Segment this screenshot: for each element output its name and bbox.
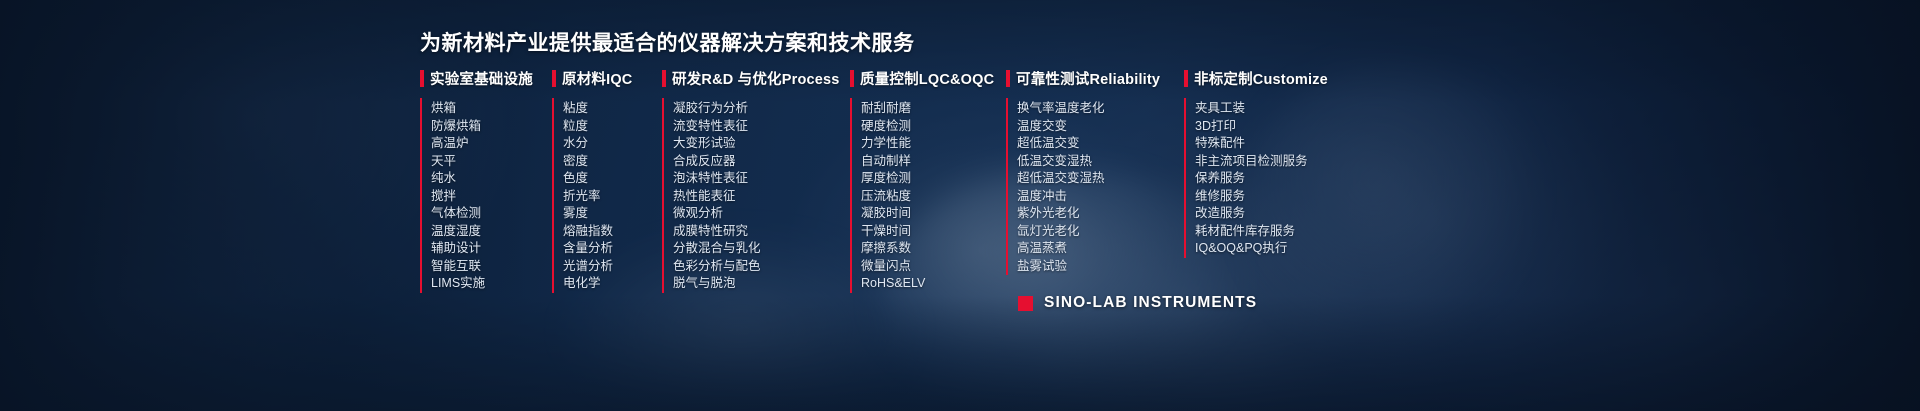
list-item[interactable]: 摩擦系数 bbox=[861, 240, 1006, 258]
header-accent-bar-icon bbox=[850, 70, 854, 87]
list-item[interactable]: LIMS实施 bbox=[431, 275, 552, 293]
column-header-label: 研发R&D 与优化Process bbox=[672, 68, 840, 89]
list-item[interactable]: 水分 bbox=[563, 135, 662, 153]
list-item[interactable]: 厚度检测 bbox=[861, 170, 1006, 188]
list-item[interactable]: 非主流项目检测服务 bbox=[1195, 153, 1354, 171]
list-item[interactable]: 低温交变湿热 bbox=[1017, 153, 1184, 171]
list-item[interactable]: 脱气与脱泡 bbox=[673, 275, 850, 293]
column-header: 非标定制Customize bbox=[1184, 68, 1354, 88]
list-item[interactable]: 力学性能 bbox=[861, 135, 1006, 153]
column-item-list: 粘度 粒度 水分 密度 色度 折光率 雾度 熔融指数 含量分析 光谱分析 电化学 bbox=[552, 98, 662, 293]
list-item[interactable]: 3D打印 bbox=[1195, 118, 1354, 136]
list-accent-rule-icon bbox=[850, 98, 852, 293]
page-title: 为新材料产业提供最适合的仪器解决方案和技术服务 bbox=[420, 27, 915, 57]
column-item-list: 夹具工装 3D打印 特殊配件 非主流项目检测服务 保养服务 维修服务 改造服务 … bbox=[1184, 98, 1354, 258]
list-item[interactable]: 耐刮耐磨 bbox=[861, 100, 1006, 118]
list-item[interactable]: 含量分析 bbox=[563, 240, 662, 258]
list-item[interactable]: 粘度 bbox=[563, 100, 662, 118]
column-item-list: 凝胶行为分析 流变特性表征 大变形试验 合成反应器 泡沫特性表征 热性能表征 微… bbox=[662, 98, 850, 293]
list-accent-rule-icon bbox=[420, 98, 422, 293]
list-item[interactable]: 合成反应器 bbox=[673, 153, 850, 171]
column-header-label: 可靠性测试Reliability bbox=[1016, 68, 1160, 89]
list-item[interactable]: 烘箱 bbox=[431, 100, 552, 118]
column-header: 研发R&D 与优化Process bbox=[662, 68, 850, 88]
category-column-reliability: 可靠性测试Reliability 换气率温度老化 温度交变 超低温交变 低温交变… bbox=[1006, 68, 1184, 275]
list-item[interactable]: 凝胶行为分析 bbox=[673, 100, 850, 118]
list-item[interactable]: 温度冲击 bbox=[1017, 188, 1184, 206]
list-item[interactable]: 耗材配件库存服务 bbox=[1195, 223, 1354, 241]
list-item[interactable]: 改造服务 bbox=[1195, 205, 1354, 223]
brand-name: SINO-LAB INSTRUMENTS bbox=[1044, 294, 1257, 312]
brand-lockup: SINO-LAB INSTRUMENTS bbox=[1018, 294, 1257, 312]
list-item[interactable]: 雾度 bbox=[563, 205, 662, 223]
list-accent-rule-icon bbox=[1184, 98, 1186, 258]
list-item[interactable]: 纯水 bbox=[431, 170, 552, 188]
header-accent-bar-icon bbox=[662, 70, 666, 87]
list-item[interactable]: 智能互联 bbox=[431, 258, 552, 276]
list-accent-rule-icon bbox=[552, 98, 554, 293]
list-item[interactable]: 压流粘度 bbox=[861, 188, 1006, 206]
list-item[interactable]: 粒度 bbox=[563, 118, 662, 136]
column-header-label: 非标定制Customize bbox=[1194, 68, 1328, 89]
header-accent-bar-icon bbox=[1006, 70, 1010, 87]
list-item[interactable]: 保养服务 bbox=[1195, 170, 1354, 188]
banner-content: 为新材料产业提供最适合的仪器解决方案和技术服务 实验室基础设施 烘箱 防爆烘箱 … bbox=[0, 0, 1920, 411]
category-column-rnd-process: 研发R&D 与优化Process 凝胶行为分析 流变特性表征 大变形试验 合成反… bbox=[662, 68, 850, 293]
list-item[interactable]: 密度 bbox=[563, 153, 662, 171]
list-item[interactable]: 高温炉 bbox=[431, 135, 552, 153]
list-item[interactable]: 光谱分析 bbox=[563, 258, 662, 276]
list-item[interactable]: 色度 bbox=[563, 170, 662, 188]
list-item[interactable]: 气体检测 bbox=[431, 205, 552, 223]
list-item[interactable]: 辅助设计 bbox=[431, 240, 552, 258]
column-header-label: 质量控制LQC&OQC bbox=[860, 68, 994, 89]
header-accent-bar-icon bbox=[552, 70, 556, 87]
column-header: 原材料IQC bbox=[552, 68, 662, 88]
list-item[interactable]: 泡沫特性表征 bbox=[673, 170, 850, 188]
column-header: 可靠性测试Reliability bbox=[1006, 68, 1184, 88]
list-item[interactable]: 自动制样 bbox=[861, 153, 1006, 171]
column-item-list: 换气率温度老化 温度交变 超低温交变 低温交变湿热 超低温交变湿热 温度冲击 紫… bbox=[1006, 98, 1184, 275]
list-item[interactable]: 防爆烘箱 bbox=[431, 118, 552, 136]
list-item[interactable]: 流变特性表征 bbox=[673, 118, 850, 136]
column-item-list: 烘箱 防爆烘箱 高温炉 天平 纯水 搅拌 气体检测 温度湿度 辅助设计 智能互联… bbox=[420, 98, 552, 293]
header-accent-bar-icon bbox=[1184, 70, 1188, 87]
list-item[interactable]: IQ&OQ&PQ执行 bbox=[1195, 240, 1354, 258]
list-accent-rule-icon bbox=[1006, 98, 1008, 275]
list-item[interactable]: 色彩分析与配色 bbox=[673, 258, 850, 276]
list-item[interactable]: 夹具工装 bbox=[1195, 100, 1354, 118]
column-header-label: 实验室基础设施 bbox=[430, 68, 533, 89]
promo-banner: 为新材料产业提供最适合的仪器解决方案和技术服务 实验室基础设施 烘箱 防爆烘箱 … bbox=[0, 0, 1920, 411]
list-item[interactable]: 天平 bbox=[431, 153, 552, 171]
list-item[interactable]: 凝胶时间 bbox=[861, 205, 1006, 223]
column-header: 质量控制LQC&OQC bbox=[850, 68, 1006, 88]
list-item[interactable]: 微量闪点 bbox=[861, 258, 1006, 276]
list-item[interactable]: 氙灯光老化 bbox=[1017, 223, 1184, 241]
header-accent-bar-icon bbox=[420, 70, 424, 87]
column-header-label: 原材料IQC bbox=[562, 68, 632, 89]
list-item[interactable]: 折光率 bbox=[563, 188, 662, 206]
list-item[interactable]: 超低温交变 bbox=[1017, 135, 1184, 153]
column-header: 实验室基础设施 bbox=[420, 68, 552, 88]
list-item[interactable]: 盐雾试验 bbox=[1017, 258, 1184, 276]
list-item[interactable]: 微观分析 bbox=[673, 205, 850, 223]
category-column-quality-control: 质量控制LQC&OQC 耐刮耐磨 硬度检测 力学性能 自动制样 厚度检测 压流粘… bbox=[850, 68, 1006, 293]
list-item[interactable]: 熔融指数 bbox=[563, 223, 662, 241]
list-item[interactable]: RoHS&ELV bbox=[861, 275, 1006, 293]
list-item[interactable]: 换气率温度老化 bbox=[1017, 100, 1184, 118]
list-item[interactable]: 温度交变 bbox=[1017, 118, 1184, 136]
category-column-raw-material-iqc: 原材料IQC 粘度 粒度 水分 密度 色度 折光率 雾度 熔融指数 含量分析 光… bbox=[552, 68, 662, 293]
list-item[interactable]: 维修服务 bbox=[1195, 188, 1354, 206]
list-item[interactable]: 干燥时间 bbox=[861, 223, 1006, 241]
list-item[interactable]: 成膜特性研究 bbox=[673, 223, 850, 241]
list-item[interactable]: 硬度检测 bbox=[861, 118, 1006, 136]
service-category-columns: 实验室基础设施 烘箱 防爆烘箱 高温炉 天平 纯水 搅拌 气体检测 温度湿度 辅… bbox=[420, 68, 1354, 293]
brand-square-icon bbox=[1018, 296, 1033, 311]
list-item[interactable]: 温度湿度 bbox=[431, 223, 552, 241]
category-column-customize: 非标定制Customize 夹具工装 3D打印 特殊配件 非主流项目检测服务 保… bbox=[1184, 68, 1354, 258]
column-item-list: 耐刮耐磨 硬度检测 力学性能 自动制样 厚度检测 压流粘度 凝胶时间 干燥时间 … bbox=[850, 98, 1006, 293]
list-item[interactable]: 热性能表征 bbox=[673, 188, 850, 206]
list-item[interactable]: 超低温交变湿热 bbox=[1017, 170, 1184, 188]
list-item[interactable]: 高温蒸煮 bbox=[1017, 240, 1184, 258]
list-item[interactable]: 分散混合与乳化 bbox=[673, 240, 850, 258]
list-item[interactable]: 大变形试验 bbox=[673, 135, 850, 153]
list-item[interactable]: 搅拌 bbox=[431, 188, 552, 206]
category-column-lab-infrastructure: 实验室基础设施 烘箱 防爆烘箱 高温炉 天平 纯水 搅拌 气体检测 温度湿度 辅… bbox=[420, 68, 552, 293]
list-item[interactable]: 电化学 bbox=[563, 275, 662, 293]
list-item[interactable]: 紫外光老化 bbox=[1017, 205, 1184, 223]
list-accent-rule-icon bbox=[662, 98, 664, 293]
list-item[interactable]: 特殊配件 bbox=[1195, 135, 1354, 153]
